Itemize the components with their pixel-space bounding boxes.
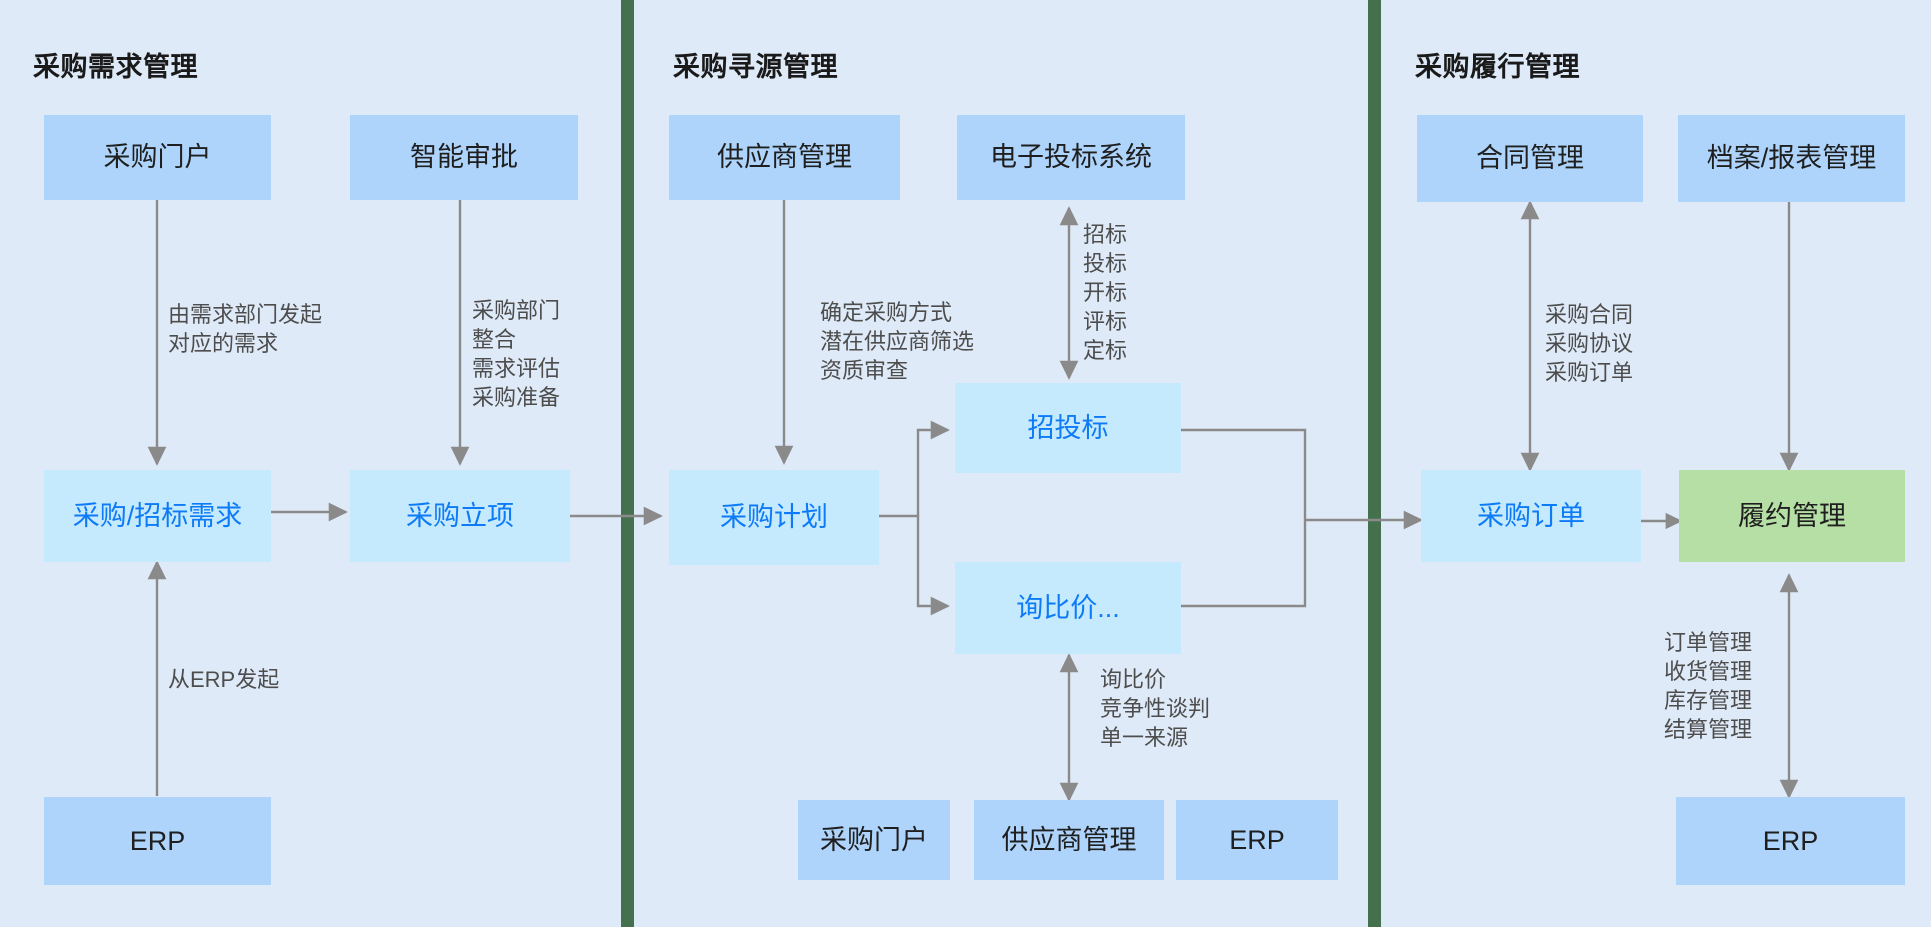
node-inquiry-comparison[interactable]: 询比价... [955,562,1181,654]
edge-label-contract-to-po: 采购合同 采购协议 采购订单 [1545,300,1725,387]
node-erp-sourcing-lane[interactable]: ERP [1176,800,1338,880]
node-erp-execution-lane[interactable]: ERP [1676,797,1905,885]
node-purchase-order[interactable]: 采购订单 [1421,470,1641,562]
node-electronic-bidding-system[interactable]: 电子投标系统 [957,115,1185,200]
edge-label-inquiry-sources: 询比价 竞争性谈判 单一来源 [1100,665,1300,752]
edge-label-portal-to-demand: 由需求部门发起 对应的需求 [168,300,398,358]
lane-title-demand: 采购需求管理 [33,45,198,84]
node-supplier-management-bottom[interactable]: 供应商管理 [974,800,1164,880]
node-supplier-management-top[interactable]: 供应商管理 [669,115,900,200]
node-purchase-project-setup[interactable]: 采购立项 [350,470,570,562]
node-archive-report-management[interactable]: 档案/报表管理 [1678,115,1905,202]
edge-label-ebid-to-tender: 招标 投标 开标 评标 定标 [1083,220,1173,365]
node-purchase-bid-demand[interactable]: 采购/招标需求 [44,470,271,562]
lane-title-execution: 采购履行管理 [1415,45,1580,84]
lane-divider-1 [621,0,634,927]
node-tender-bidding[interactable]: 招投标 [955,383,1181,473]
diagram-canvas: 采购需求管理 采购寻源管理 采购履行管理 采购门户 智能审批 采购/招标需求 采… [0,0,1931,927]
lane-divider-2 [1368,0,1381,927]
edge-label-erp-to-demand: 从ERP发起 [168,665,348,694]
node-erp-demand-lane[interactable]: ERP [44,797,271,885]
node-portal-sourcing-lane[interactable]: 采购门户 [798,800,950,880]
edge-label-supplier-to-plan: 确定采购方式 潜在供应商筛选 资质审查 [820,298,1070,385]
edge-label-erp-to-fulfillment: 订单管理 收货管理 库存管理 结算管理 [1664,628,1824,744]
node-contract-management[interactable]: 合同管理 [1417,115,1643,202]
edge-label-approval-to-project: 采购部门 整合 需求评估 采购准备 [472,296,622,412]
lane-title-sourcing: 采购寻源管理 [673,45,838,84]
node-fulfillment-management[interactable]: 履约管理 [1679,470,1905,562]
node-portal-demand-lane[interactable]: 采购门户 [44,115,271,200]
node-smart-approval[interactable]: 智能审批 [350,115,578,200]
node-purchase-plan[interactable]: 采购计划 [669,470,879,565]
